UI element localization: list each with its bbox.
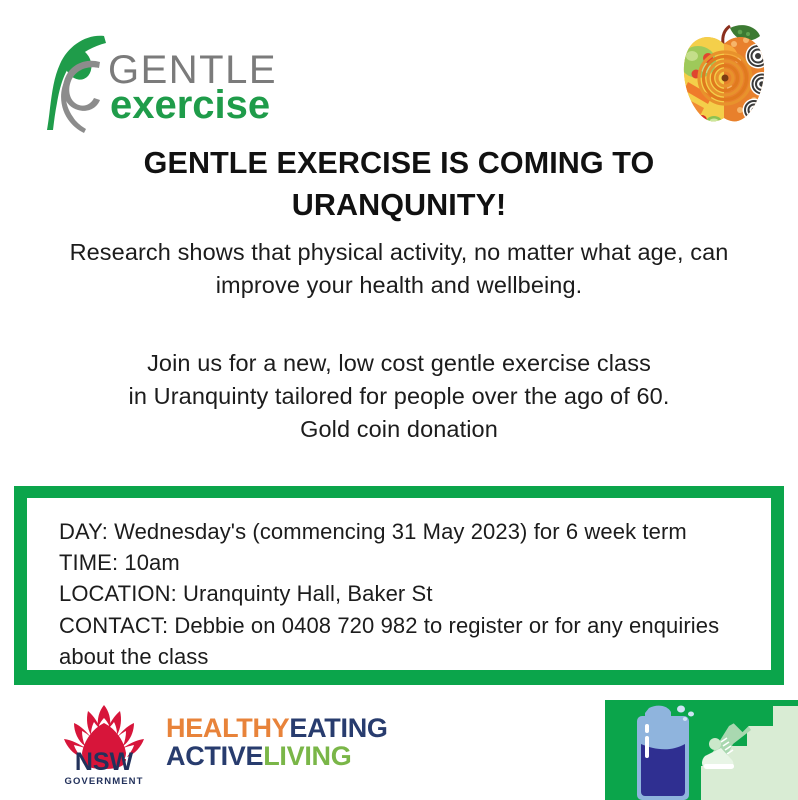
detail-contact: CONTACT: Debbie on 0408 720 982 to regis… — [59, 610, 749, 672]
class-details-inner: DAY: Wednesday's (commencing 31 May 2023… — [27, 498, 771, 670]
heal-row-1: HEALTHYEATING — [166, 714, 416, 742]
flyer-footer: x NSW GOVERNMENT HEALTHYEATING ACTIVELIV… — [0, 690, 798, 800]
footer-artwork-panel — [605, 700, 798, 800]
invitation-paragraph: Join us for a new, low cost gentle exerc… — [36, 347, 762, 447]
gentle-exercise-figure-icon — [42, 30, 112, 135]
heal-word-healthy: HEALTHY — [166, 713, 289, 743]
body-copy: Research shows that physical activity, n… — [36, 236, 762, 524]
invitation-line-3: Gold coin donation — [36, 413, 762, 446]
heal-row-2: ACTIVELIVING — [166, 742, 416, 770]
flyer-header: GENTLE exercise — [0, 0, 798, 140]
intro-paragraph: Research shows that physical activity, n… — [36, 236, 762, 303]
invitation-line-2: in Uranquinty tailored for people over t… — [36, 380, 762, 413]
detail-location: LOCATION: Uranquinty Hall, Baker St — [59, 578, 749, 609]
nsw-logo-subtitle: GOVERNMENT — [52, 777, 156, 787]
healthy-eating-active-living-logo: HEALTHYEATING ACTIVELIVING — [166, 714, 416, 771]
invitation-line-1: Join us for a new, low cost gentle exerc… — [36, 347, 762, 380]
water-bottle-stairs-icon — [605, 700, 798, 800]
nsw-wordmark: NSW GOVERNMENT — [52, 750, 156, 787]
class-details-box: DAY: Wednesday's (commencing 31 May 2023… — [14, 486, 784, 685]
heal-word-living: LIVING — [263, 741, 351, 771]
flyer-page: GENTLE exercise — [0, 0, 798, 800]
brand-word-exercise: exercise — [110, 85, 298, 125]
gentle-exercise-logo: GENTLE exercise — [42, 30, 292, 135]
detail-day: DAY: Wednesday's (commencing 31 May 2023… — [59, 516, 749, 547]
gentle-exercise-wordmark: GENTLE exercise — [108, 50, 298, 125]
heal-word-active: ACTIVE — [166, 741, 263, 771]
detail-time: TIME: 10am — [59, 547, 749, 578]
page-title-line1: GENTLE EXERCISE IS COMING TO — [144, 146, 655, 180]
apple-fruit-vegetable-icon — [668, 22, 780, 134]
page-title-line2: URANQUNITY! — [292, 188, 507, 222]
page-title: GENTLE EXERCISE IS COMING TO URANQUNITY! — [60, 143, 738, 227]
heal-word-eating: EATING — [289, 713, 387, 743]
nsw-logo-text: NSW — [52, 750, 156, 775]
